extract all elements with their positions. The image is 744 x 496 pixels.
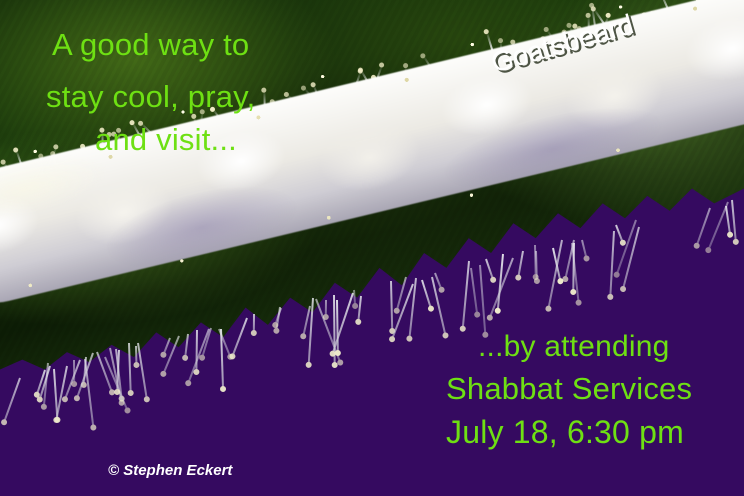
- stamen: [615, 225, 623, 242]
- stamen: [470, 268, 478, 314]
- stamen: [84, 359, 94, 426]
- stamen: [353, 290, 356, 305]
- stamen: [253, 314, 255, 332]
- stamen: [534, 245, 537, 276]
- message-line-2: stay cool, pray,: [46, 79, 255, 115]
- stamen: [163, 338, 171, 355]
- stamen: [4, 378, 21, 422]
- stamen: [581, 240, 587, 257]
- stamen: [184, 334, 189, 357]
- flyer-image: A good way to stay cool, pray, and visit…: [0, 0, 744, 496]
- stamen: [390, 281, 393, 330]
- stamen: [518, 251, 525, 277]
- announcement-line-3: July 18, 6:30 pm: [446, 414, 684, 451]
- stamen: [725, 206, 731, 234]
- stamen: [128, 343, 132, 392]
- stamen: [357, 295, 362, 320]
- stamen: [479, 264, 486, 333]
- stamen: [696, 208, 711, 246]
- stamen: [232, 318, 248, 356]
- stamen: [485, 259, 494, 280]
- announcement-line-2: Shabbat Services: [446, 371, 692, 407]
- announcement-line-1: ...by attending: [478, 330, 669, 364]
- stamen: [336, 300, 339, 352]
- message-line-1: A good way to: [52, 27, 249, 63]
- stamen: [53, 369, 58, 419]
- stamen: [73, 360, 75, 383]
- message-line-3: and visit...: [95, 122, 237, 158]
- stamen: [610, 231, 616, 296]
- stamen: [137, 343, 148, 399]
- photo-credit: © Stephen Eckert: [108, 462, 232, 479]
- stamen: [421, 280, 431, 308]
- stamen: [325, 300, 327, 316]
- stamen: [548, 240, 563, 308]
- stamen: [462, 261, 470, 328]
- stamen: [708, 202, 729, 250]
- stamen: [188, 329, 210, 383]
